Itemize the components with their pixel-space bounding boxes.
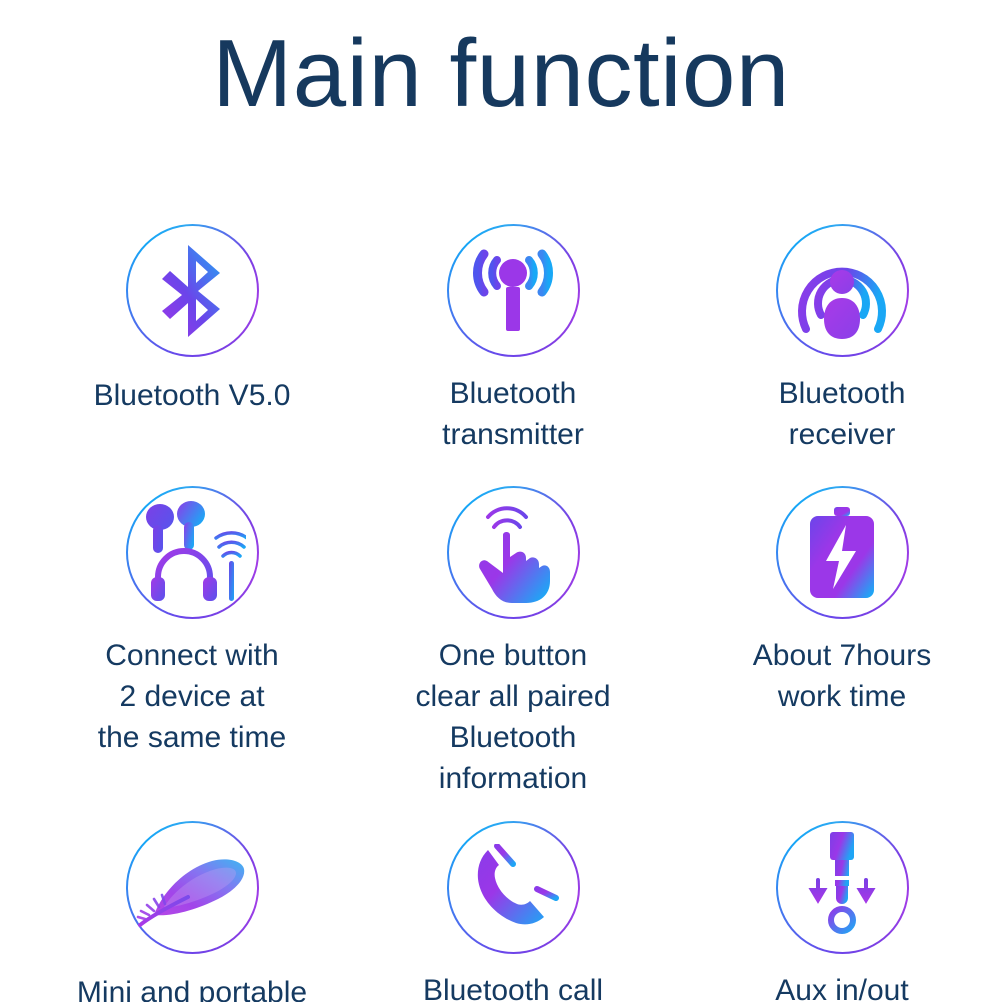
tap-hand-icon [468, 501, 558, 605]
bluetooth-icon [150, 243, 234, 339]
icon-ring [776, 821, 909, 954]
icon-ring [447, 821, 580, 954]
feature-label: Aux in/out [775, 970, 908, 1002]
feature-item-one-button-clear: One button clear all paired Bluetooth in… [334, 486, 668, 821]
feature-item-connect-two-devices: Connect with 2 device at the same time [0, 486, 334, 821]
icon-ring [126, 486, 259, 619]
feature-item-battery-life: About 7hours work time [668, 486, 1002, 821]
feature-item-bluetooth-call: Bluetooth call [334, 821, 668, 1002]
feature-label: Bluetooth V5.0 [94, 375, 291, 416]
bluetooth-receiver-icon [790, 241, 894, 341]
icon-ring [776, 224, 909, 357]
feature-label: Bluetooth call [423, 970, 603, 1002]
feature-label: One button clear all paired Bluetooth in… [415, 635, 610, 799]
feature-label: About 7hours work time [753, 635, 931, 717]
feature-item-bluetooth-v50: Bluetooth V5.0 [0, 224, 334, 486]
icon-ring [447, 224, 580, 357]
battery-bolt-icon [810, 507, 874, 599]
phone-handset-icon [466, 844, 560, 932]
page-title: Main function [0, 18, 1002, 130]
feature-item-mini-portable: Mini and portable [0, 821, 334, 1002]
feature-item-bluetooth-transmitter: Bluetooth transmitter [334, 224, 668, 486]
feature-label: Bluetooth receiver [779, 373, 906, 455]
earbuds-headphones-icon [138, 501, 246, 605]
feather-icon [136, 849, 248, 927]
feature-grid: Bluetooth V5.0 [0, 224, 1002, 1002]
feature-item-bluetooth-receiver: Bluetooth receiver [668, 224, 1002, 486]
icon-ring [776, 486, 909, 619]
feature-item-aux-in-out: Aux in/out [668, 821, 1002, 1002]
aux-jack-icon [805, 832, 879, 944]
icon-ring [447, 486, 580, 619]
main-function-infographic: Main function Bluetooth V5.0 [0, 0, 1002, 1002]
feature-label: Connect with 2 device at the same time [98, 635, 286, 758]
icon-ring [126, 224, 259, 357]
feature-label: Bluetooth transmitter [442, 373, 584, 455]
bluetooth-transmitter-icon [463, 247, 563, 335]
feature-label: Mini and portable [77, 972, 307, 1002]
icon-ring [126, 821, 259, 954]
